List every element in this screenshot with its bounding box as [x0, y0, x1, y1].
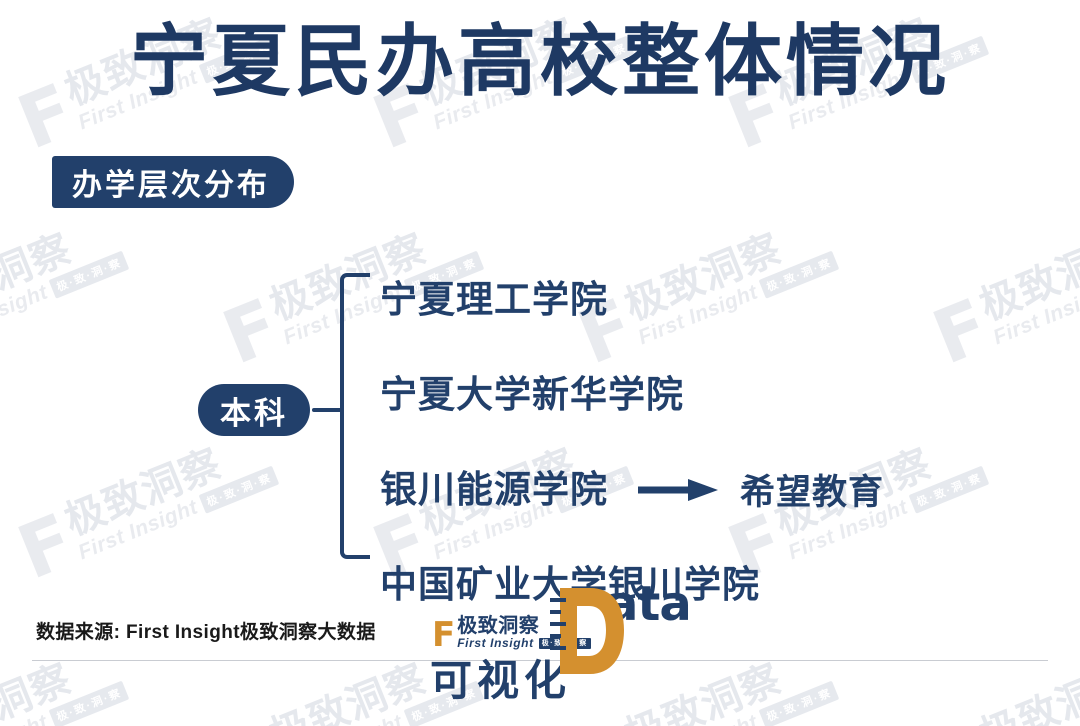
pill-connector-line — [312, 408, 342, 412]
section-badge-label: 办学层次分布 — [72, 160, 270, 204]
school-name: 宁夏大学新华学院 — [380, 376, 684, 413]
page-title: 宁夏民办高校整体情况 — [0, 18, 1080, 105]
school-list-item: 银川能源学院希望教育 — [380, 442, 1030, 537]
infographic-page: F极致洞察First Insight极·致·洞·察F极致洞察First Insi… — [0, 0, 1080, 726]
content-layer: 宁夏民办高校整体情况 办学层次分布 本科 宁夏理工学院宁夏大学新华学院银川能源学… — [0, 0, 1080, 726]
school-list-item: 宁夏理工学院 — [380, 252, 1030, 347]
school-name: 宁夏理工学院 — [380, 281, 608, 318]
section-badge: 办学层次分布 — [52, 156, 294, 208]
logo-en-name: First Insight — [457, 637, 533, 649]
logo-f-mark-icon: F — [432, 622, 453, 649]
footer-logo: F 极致洞察 First Insight 极·致·洞·察 可视化 — [428, 612, 678, 724]
school-list-item: 宁夏大学新华学院 — [380, 347, 1030, 442]
group-bracket — [340, 273, 370, 559]
school-name: 银川能源学院 — [380, 471, 608, 508]
level-pill-undergraduate: 本科 — [198, 384, 310, 436]
arrow-right-icon — [638, 479, 718, 501]
school-acquirer: 希望教育 — [740, 464, 884, 515]
school-list: 宁夏理工学院宁夏大学新华学院银川能源学院希望教育中国矿业大学银川学院 — [380, 252, 1030, 632]
level-pill-label: 本科 — [220, 388, 288, 433]
footer-source-text: 数据来源: First Insight极致洞察大数据 — [36, 617, 376, 644]
logo-data-d-icon — [550, 584, 628, 685]
logo-data-word: ata — [550, 584, 691, 624]
